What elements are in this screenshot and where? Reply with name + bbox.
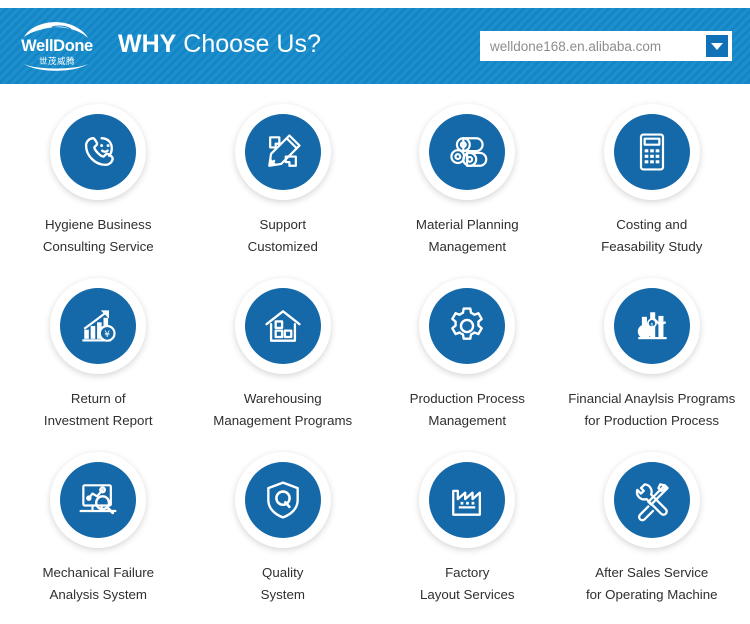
page-title: WHY Choose Us? (118, 32, 321, 59)
factory-icon (445, 478, 489, 522)
service-label: Material Planning Management (416, 214, 519, 257)
service-item[interactable]: Production Process Management (375, 278, 560, 452)
service-label: Financial Anaylsis Programs for Producti… (568, 388, 735, 431)
service-label: Warehousing Management Programs (213, 388, 352, 431)
icon-circle (60, 114, 136, 190)
icon-circle (429, 288, 505, 364)
icon-circle (245, 114, 321, 190)
calculator-icon (630, 130, 674, 174)
icon-circle (614, 462, 690, 538)
service-item[interactable]: Material Planning Management (375, 104, 560, 278)
icon-badge (604, 452, 700, 548)
wrench-screwdriver-icon (630, 478, 674, 522)
shield-q-icon (261, 478, 305, 522)
icon-circle (429, 462, 505, 538)
service-item[interactable]: ¥ Return of Investment Report (6, 278, 191, 452)
icon-badge (50, 452, 146, 548)
icon-badge: $ (604, 278, 700, 374)
service-label: Mechanical Failure Analysis System (42, 562, 154, 605)
service-item[interactable]: Quality System (191, 452, 376, 624)
bar-chart-coin-icon: $ (630, 304, 674, 348)
service-item[interactable]: Costing and Feasability Study (560, 104, 745, 278)
page-title-rest: Choose Us? (176, 30, 321, 58)
icon-badge (235, 452, 331, 548)
logo-wordmark: WellDone (18, 37, 96, 56)
store-url-box[interactable]: welldone168.en.alibaba.com (480, 31, 732, 61)
service-label: Hygiene Business Consulting Service (43, 214, 154, 257)
url-dropdown-button[interactable] (706, 35, 728, 57)
icon-badge (235, 278, 331, 374)
icon-circle (429, 114, 505, 190)
icon-badge (604, 104, 700, 200)
service-item[interactable]: Support Customized (191, 104, 376, 278)
brand-logo: WellDone 世茂威腾 (18, 19, 96, 73)
icon-badge (419, 452, 515, 548)
service-label: Production Process Management (410, 388, 525, 431)
service-item[interactable]: $ Financial Anaylsis Programs for Produc… (560, 278, 745, 452)
service-item[interactable]: After Sales Service for Operating Machin… (560, 452, 745, 624)
icon-circle: ¥ (60, 288, 136, 364)
icon-circle (614, 114, 690, 190)
service-label: Costing and Feasability Study (601, 214, 702, 257)
header-bottom-white-strip (0, 84, 750, 90)
icon-badge (419, 104, 515, 200)
svg-text:¥: ¥ (105, 329, 111, 340)
service-item[interactable]: Mechanical Failure Analysis System (6, 452, 191, 624)
store-url-text: welldone168.en.alibaba.com (490, 39, 706, 54)
header-top-white-strip (0, 0, 750, 8)
service-label: After Sales Service for Operating Machin… (586, 562, 718, 605)
service-label: Quality System (261, 562, 305, 605)
growth-chart-coin-icon: ¥ (76, 304, 120, 348)
service-label: Return of Investment Report (44, 388, 153, 431)
service-item[interactable]: Hygiene Business Consulting Service (6, 104, 191, 278)
gear-icon (445, 304, 489, 348)
monitor-magnifier-icon (76, 478, 120, 522)
icon-circle (60, 462, 136, 538)
warehouse-boxes-icon (261, 304, 305, 348)
service-item[interactable]: Factory Layout Services (375, 452, 560, 624)
service-grid: Hygiene Business Consulting Service Supp… (0, 90, 750, 624)
stacked-pipes-icon (445, 130, 489, 174)
icon-badge (235, 104, 331, 200)
service-label: Factory Layout Services (420, 562, 515, 605)
svg-text:$: $ (650, 322, 653, 328)
icon-badge (419, 278, 515, 374)
chevron-down-icon (711, 43, 723, 50)
service-item[interactable]: Warehousing Management Programs (191, 278, 376, 452)
icon-badge (50, 104, 146, 200)
icon-badge: ¥ (50, 278, 146, 374)
logo-underline-swoosh (24, 63, 88, 72)
icon-circle (245, 288, 321, 364)
phone-smile-icon (76, 130, 120, 174)
icon-circle: $ (614, 288, 690, 364)
pencil-ruler-icon (261, 130, 305, 174)
page-header: WellDone 世茂威腾 WHY Choose Us? welldone168… (0, 0, 750, 90)
page-title-bold: WHY (118, 30, 176, 58)
icon-circle (245, 462, 321, 538)
service-label: Support Customized (248, 214, 318, 257)
